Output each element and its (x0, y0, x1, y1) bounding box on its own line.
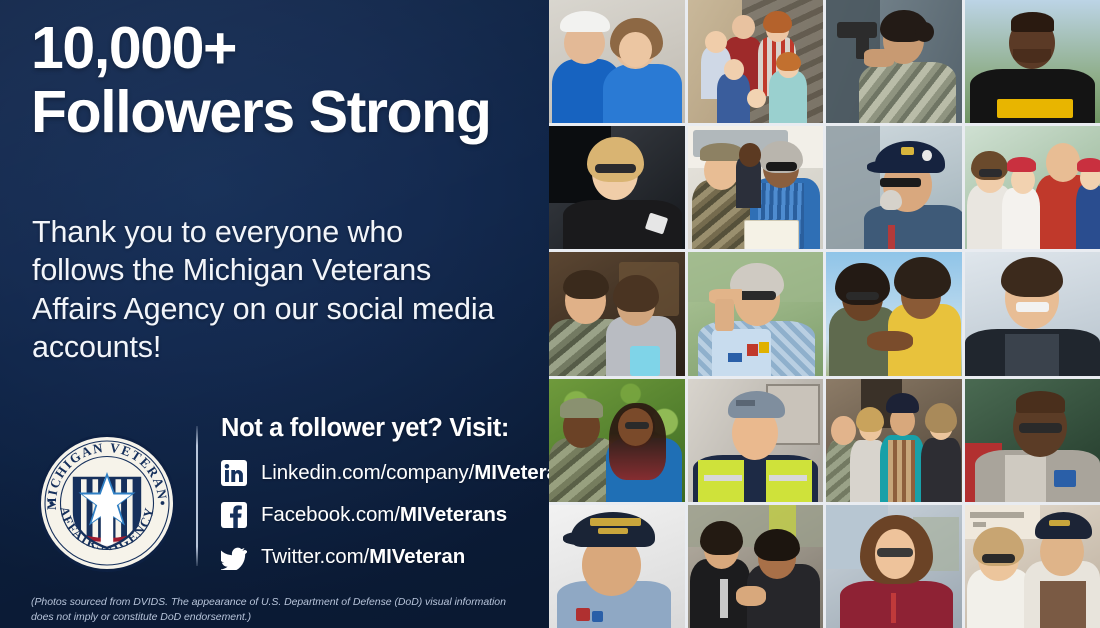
collage-photo: Couple in blue Air Force shirts (549, 0, 685, 123)
collage-photo: Woman with curly hair in red top (826, 505, 962, 628)
page-title: 10,000+ Followers Strong (31, 16, 490, 145)
twitter-url: Twitter.com/MIVeteran (261, 545, 465, 569)
facebook-url: Facebook.com/MIVeterans (261, 503, 507, 527)
collage-photo: Older couple at indoor event (965, 505, 1100, 628)
collage-photo: Soldier presenting certificate to woman (688, 126, 824, 249)
twitter-icon (221, 544, 247, 570)
left-content-panel: 10,000+ Followers Strong Thank you to ev… (0, 0, 549, 628)
social-link-twitter[interactable]: Twitter.com/MIVeteran (221, 540, 549, 574)
collage-photo: Man in safety vest and ball cap (688, 379, 824, 502)
call-to-action-block: Not a follower yet? Visit: Linkedin.com/… (221, 414, 549, 582)
cta-heading: Not a follower yet? Visit: (221, 414, 549, 443)
facebook-icon (221, 502, 247, 528)
collage-photo: Airman holding young daughter (549, 252, 685, 375)
collage-photo: Two women embracing outdoors (826, 252, 962, 375)
subheading-text: Thank you to everyone who follows the Mi… (32, 213, 502, 367)
collage-photo: Woman with glasses in black t-shirt (549, 126, 685, 249)
collage-photo: Veteran in navy ball cap with sunglasses (826, 126, 962, 249)
photo-collage-grid: Couple in blue Air Force shirts Family w… (549, 0, 1100, 628)
collage-photo: Veteran saluting in patterned shirt (688, 252, 824, 375)
mvaa-seal-logo: MICHIGAN VETERANS AFFAIRS AGENCY (36, 432, 178, 574)
collage-photo: Man in black STRONG shirt outdoors (965, 0, 1100, 123)
collage-photo: Group with veteran in teal jacket (826, 379, 962, 502)
collage-photo: Family with toddlers in patriotic outfit… (965, 126, 1100, 249)
collage-photo: Soldier and woman under green trees (549, 379, 685, 502)
photo-credit-disclaimer: (Photos sourced from DVIDS. The appearan… (31, 595, 531, 625)
social-link-facebook[interactable]: Facebook.com/MIVeterans (221, 498, 549, 532)
collage-photo: Veteran in USS UTAH AG-16 cap (549, 505, 685, 628)
collage-photo: Elderly veteran seated indoors (965, 379, 1100, 502)
linkedin-url: Linkedin.com/company/MIVeteran (261, 461, 549, 485)
collage-photo: Volunteer assisting veteran at event (688, 505, 824, 628)
vertical-divider (196, 426, 198, 566)
linkedin-icon (221, 460, 247, 486)
collage-photo: Airman aiming training pistol (826, 0, 962, 123)
collage-photo: Family with children on stairs (688, 0, 824, 123)
social-link-linkedin[interactable]: Linkedin.com/company/MIVeteran (221, 456, 549, 490)
collage-photo: Smiling woman in dark flight jacket (965, 252, 1100, 375)
poster-canvas: 10,000+ Followers Strong Thank you to ev… (0, 0, 1100, 628)
